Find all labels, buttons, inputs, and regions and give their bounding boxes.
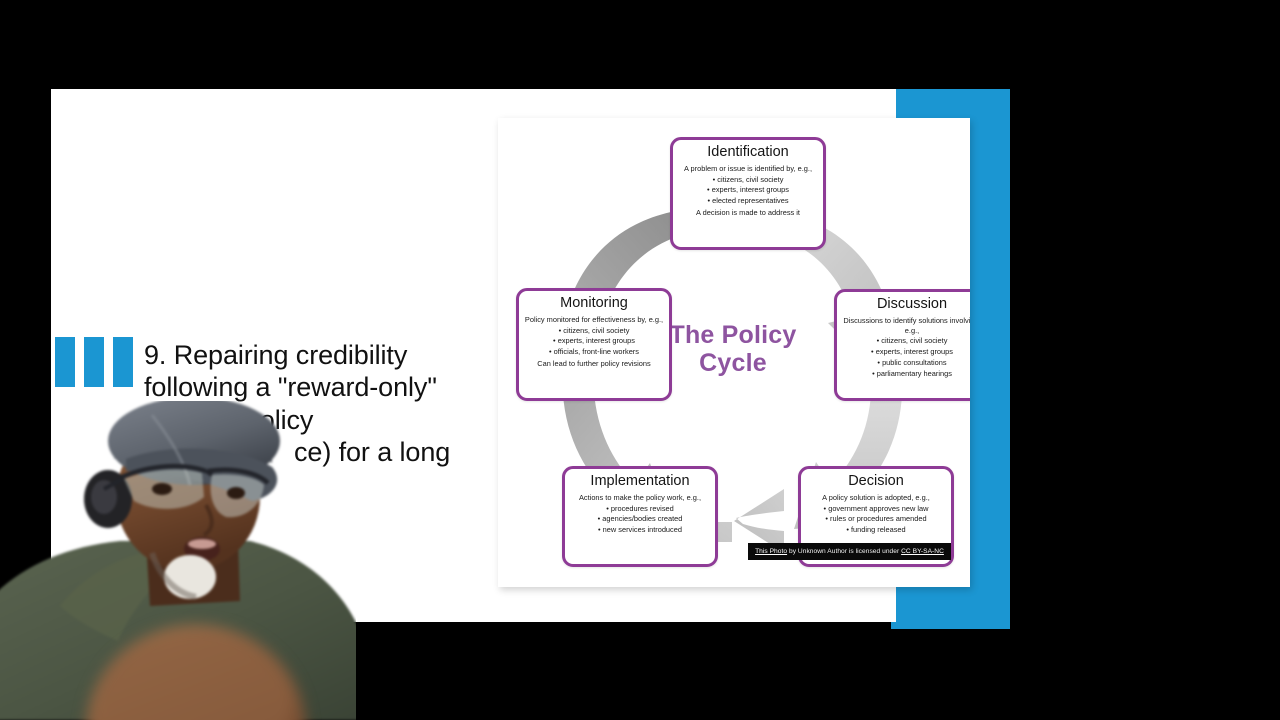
stage-bullet: agencies/bodies created — [569, 514, 711, 525]
attribution-middle-text: by Unknown Author is licensed under — [787, 548, 901, 555]
upper-lip — [188, 539, 216, 549]
photo-attribution-bar: This Photo by Unknown Author is licensed… — [748, 543, 951, 560]
stage-lead-discussion: Discussions to identify solutions involv… — [841, 316, 970, 336]
accent-bar-2 — [84, 337, 104, 387]
policy-cycle-image: The Policy Cycle Identification A proble… — [498, 118, 970, 587]
stage-bullet: public consultations — [841, 358, 970, 369]
stage-lead-identification: A problem or issue is identified by, e.g… — [677, 164, 819, 174]
stage-bullet: funding released — [805, 525, 947, 536]
stage-title-discussion: Discussion — [841, 297, 970, 313]
bullet-line-2: following a "reward-only" — [144, 371, 544, 403]
stage-bullet: citizens, civil society — [677, 175, 819, 186]
stage-tail-monitoring: Can lead to further policy revisions — [523, 359, 665, 369]
eye-left — [152, 483, 172, 495]
stage-bullet: officials, front-line workers — [523, 347, 665, 358]
this-photo-link[interactable]: This Photo — [755, 548, 787, 555]
stage-bullets-decision: government approves new law rules or pro… — [805, 504, 947, 536]
stage-box-discussion[interactable]: Discussion Discussions to identify solut… — [834, 289, 970, 401]
stage-title-implementation: Implementation — [569, 474, 711, 490]
bullet-line-1: 9. Repairing credibility — [144, 339, 544, 371]
stage-title-decision: Decision — [805, 474, 947, 490]
stage-bullet: procedures revised — [569, 504, 711, 515]
stage-bullets-identification: citizens, civil society experts, interes… — [677, 175, 819, 207]
stage-bullet: rules or procedures amended — [805, 514, 947, 525]
stage-bullets-implementation: procedures revised agencies/bodies creat… — [569, 504, 711, 536]
accent-bar-3 — [113, 337, 133, 387]
stage-bullets-discussion: citizens, civil society experts, interes… — [841, 336, 970, 379]
presenter-webcam-overlay — [0, 401, 356, 720]
stage-bullets-monitoring: citizens, civil society experts, interes… — [523, 326, 665, 358]
cycle-title-line-2: Cycle — [699, 349, 767, 377]
stage-bullet: government approves new law — [805, 504, 947, 515]
stage-box-identification[interactable]: Identification A problem or issue is ide… — [670, 137, 826, 250]
slide-accent-bars — [55, 337, 133, 387]
stage-bullet: experts, interest groups — [677, 185, 819, 196]
eye-right — [227, 487, 245, 499]
stage-bullet: parliamentary hearings — [841, 369, 970, 380]
stage-lead-implementation: Actions to make the policy work, e.g., — [569, 493, 711, 503]
stage-bullet: experts, interest groups — [841, 347, 970, 358]
cycle-center-title: The Policy Cycle — [658, 304, 808, 394]
stage-lead-monitoring: Policy monitored for effectiveness by, e… — [523, 315, 665, 325]
stage-box-monitoring[interactable]: Monitoring Policy monitored for effectiv… — [516, 288, 672, 401]
cycle-title-line-1: The Policy — [669, 321, 796, 349]
stage-bullet: elected representatives — [677, 196, 819, 207]
stage-bullet: citizens, civil society — [523, 326, 665, 337]
stage-lead-decision: A policy solution is adopted, e.g., — [805, 493, 947, 503]
stage-bullet: citizens, civil society — [841, 336, 970, 347]
stage-tail-identification: A decision is made to address it — [677, 208, 819, 218]
stage-bullet: new services introduced — [569, 525, 711, 536]
stage-bullet: experts, interest groups — [523, 336, 665, 347]
stage-box-implementation[interactable]: Implementation Actions to make the polic… — [562, 466, 718, 567]
license-link[interactable]: CC BY-SA-NC — [901, 548, 944, 555]
stage-title-monitoring: Monitoring — [523, 296, 665, 312]
accent-bar-1 — [55, 337, 75, 387]
stage-title-identification: Identification — [677, 145, 819, 161]
photo-attribution-text: This Photo by Unknown Author is licensed… — [755, 548, 944, 555]
